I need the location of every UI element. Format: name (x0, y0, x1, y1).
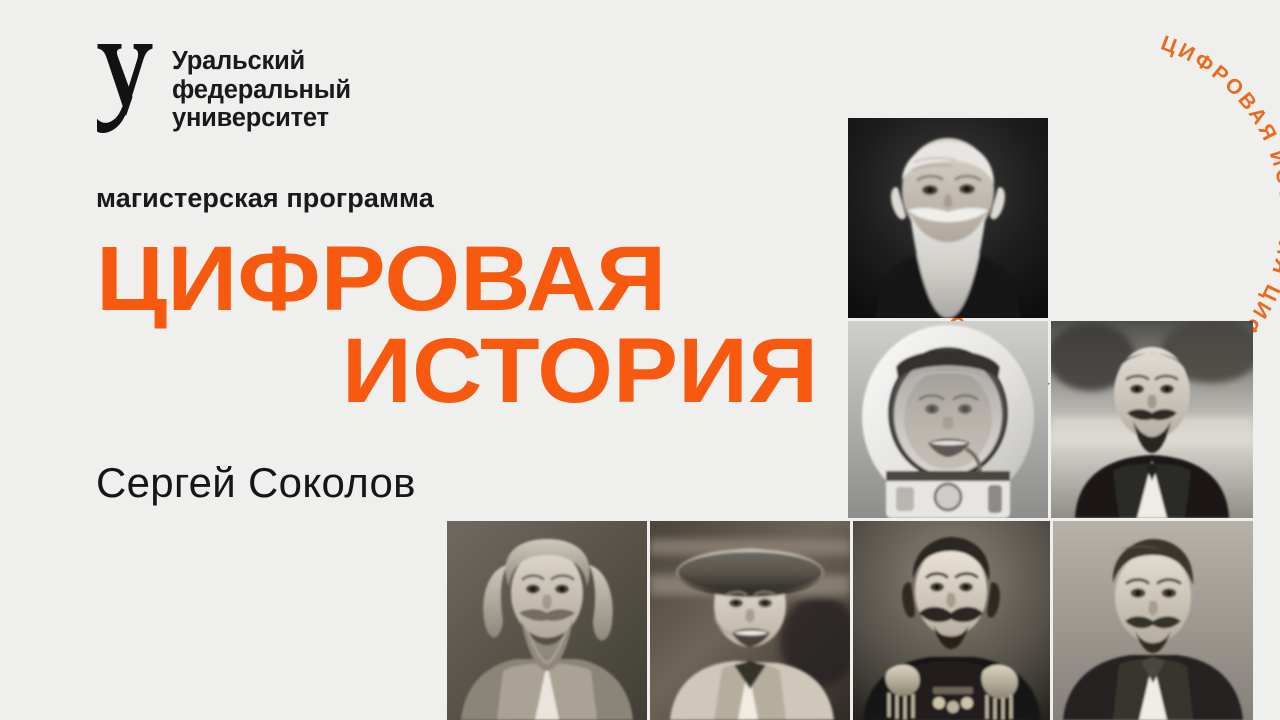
page-title-line-2: ИСТОРИЯ (96, 324, 902, 419)
logo-line-2: федеральный (172, 76, 351, 105)
portrait-morozov: Мужчина с усами и бородой в тёмном пиджа… (1053, 521, 1253, 720)
portrait-mendeleev: Мужчина с длинными волосами и бородой (447, 521, 647, 720)
logo-wordmark: Уральский федеральный университет (172, 42, 351, 133)
page-title-line-1: ЦИФРОВАЯ (96, 232, 902, 327)
portrait-gagarin: Космонавт в скафандре с гермошлемом (848, 321, 1048, 518)
portrait-chaliapin: Улыбающийся мужчина в широкополой шляпе (650, 521, 850, 720)
headline-block: магистерская программа ЦИФРОВАЯ ИСТОРИЯ (96, 182, 856, 419)
program-kicker: магистерская программа (96, 182, 856, 214)
speaker-name: Сергей Соколов (96, 458, 416, 508)
logo-line-1: Уральский (172, 47, 351, 76)
portrait-stolypin: Мужчина с бородой в костюме на фоне сада (1051, 321, 1253, 518)
university-logo: Уральский федеральный университет (96, 42, 351, 134)
logo-line-3: университет (172, 104, 351, 133)
portrait-tolstoy: Портрет пожилого мужчины с длинной седой… (848, 118, 1048, 318)
ufu-u-monogram-icon (96, 42, 154, 134)
portrait-alexander-ii: Мужчина в военном мундире с эполетами (853, 521, 1050, 720)
presentation-slide: Уральский федеральный университет магист… (0, 0, 1280, 720)
